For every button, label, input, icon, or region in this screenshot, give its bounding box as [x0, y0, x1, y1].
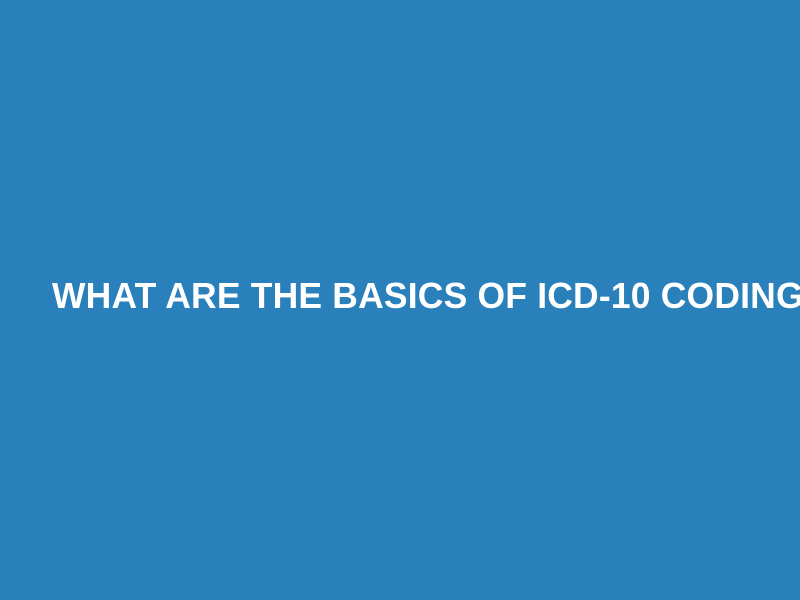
banner-content: What are the Basics of ICD-10 Coding? — [0, 274, 800, 318]
page-title: What are the Basics of ICD-10 Coding? — [52, 274, 749, 318]
article-banner: What are the Basics of ICD-10 Coding? — [0, 0, 800, 600]
